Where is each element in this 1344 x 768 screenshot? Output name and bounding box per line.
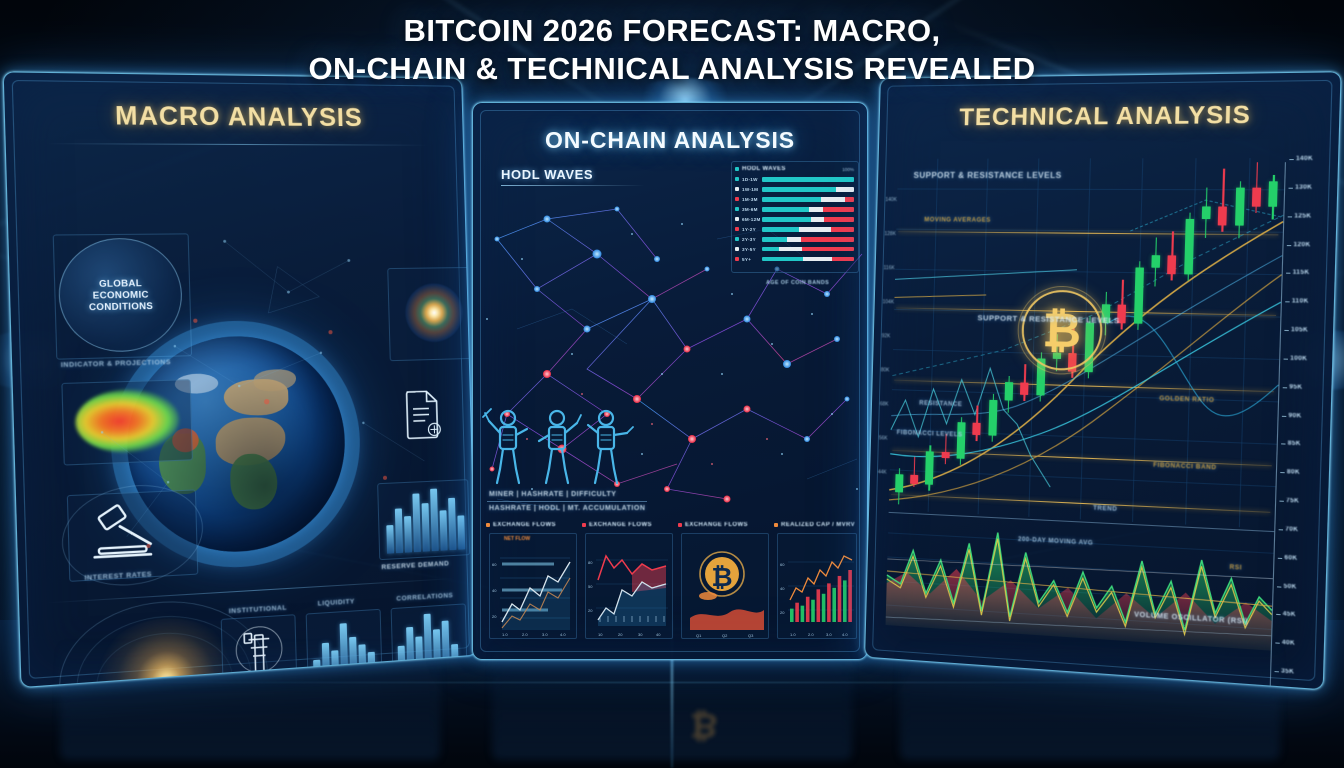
- hodl-chart-title: HODL WAVES 100%: [735, 166, 854, 172]
- axis-tick-label: 104K: [883, 299, 895, 305]
- tech-label: RSI: [1229, 565, 1242, 572]
- axis-tick-mark: [1283, 387, 1287, 388]
- candlestick: [971, 163, 989, 509]
- axis-tick-label: 75K: [1286, 498, 1299, 505]
- axis-tick-label: 44K: [878, 469, 887, 475]
- panel-macro-analysis[interactable]: MACRO ANALYSIS GLOBAL ECONOMIC CONDITION…: [3, 71, 478, 688]
- svg-text:60: 60: [780, 562, 785, 567]
- hodl-row: 3M-6M: [735, 205, 854, 214]
- svg-text:20: 20: [618, 632, 623, 637]
- mini-chart-exchange-flows-2[interactable]: EXCHANGE FLOWS 10203040 805020: [585, 533, 673, 639]
- mini-chart-title: EXCHANGE FLOWS: [493, 522, 556, 528]
- hodl-legend-dot: [735, 257, 739, 261]
- axis-tick-label: 35K: [1281, 668, 1294, 675]
- svg-text:20: 20: [780, 610, 785, 615]
- axis-tick-label: 128K: [884, 231, 896, 237]
- title-line-1: BITCOIN 2026 FORECAST: MACRO,: [404, 13, 941, 48]
- hodl-stacked-bar: [762, 177, 854, 182]
- hodl-legend-dot: [735, 217, 739, 221]
- candlestick: [1243, 162, 1262, 521]
- svg-text:80: 80: [588, 560, 593, 565]
- svg-text:1.0: 1.0: [790, 632, 796, 637]
- axis-tick-label: 90K: [1288, 412, 1301, 419]
- axis-tick-label: 140K: [1296, 156, 1313, 162]
- tech-label: SUPPORT & RESISTANCE LEVELS: [913, 171, 1061, 180]
- hodl-stacked-bar: [762, 247, 854, 252]
- axis-tick-label: 50K: [1283, 583, 1296, 590]
- reflection-bitcoin-icon: ₿: [690, 700, 720, 744]
- candlestick: [1226, 162, 1245, 520]
- axis-tick-label: 60K: [1284, 555, 1297, 562]
- hodl-stacked-bar: [762, 187, 854, 192]
- mini-chart-bitcoin-flows[interactable]: EXCHANGE FLOWS ₿ Q1Q2Q3: [681, 533, 769, 639]
- hodl-category-label: 1W-1M: [742, 187, 762, 192]
- mini-chart-title: EXCHANGE FLOWS: [685, 522, 748, 528]
- svg-text:1.0: 1.0: [502, 632, 508, 637]
- axis-tick-mark: [1289, 188, 1293, 189]
- hodl-row: 1W-1M: [735, 185, 854, 194]
- panel-reflection: [492, 640, 852, 760]
- axis-tick-label: 125K: [1294, 213, 1311, 219]
- mini-chart-title: REALIZED CAP / MVRV: [781, 522, 855, 528]
- mini-chart-realized-cap[interactable]: REALIZED CAP / MVRV 1.02.03.04.0 604020: [777, 533, 857, 639]
- axis-tick-label: 92K: [882, 333, 891, 339]
- axis-tick-mark: [1277, 586, 1281, 587]
- axis-tick-mark: [1276, 614, 1280, 615]
- candlestick: [955, 163, 973, 508]
- mini-chart-title: EXCHANGE FLOWS: [589, 522, 652, 528]
- svg-text:4.0: 4.0: [560, 632, 566, 637]
- hodl-legend-dot: [735, 197, 739, 201]
- hodl-category-label: 3M-6M: [742, 207, 762, 212]
- svg-text:30: 30: [638, 632, 643, 637]
- axis-tick-mark: [1286, 273, 1290, 274]
- svg-text:3.0: 3.0: [542, 632, 548, 637]
- hodl-waves-chart[interactable]: HODL WAVES 100% 1D-1W1W-1M1M-3M3M-6M6M-1…: [731, 161, 859, 273]
- hodl-row: 5Y+: [735, 255, 854, 264]
- bitcoin-icon: ₿: [1021, 289, 1104, 371]
- svg-text:20: 20: [588, 608, 593, 613]
- candlestick: [1002, 163, 1020, 510]
- candlestick: [1128, 162, 1146, 515]
- mini-chart-exchange-flows-1[interactable]: EXCHANGE FLOWS NET FLOW 1.02.03.04.0 604…: [489, 533, 577, 639]
- hodl-category-label: 1D-1W: [742, 177, 762, 182]
- hodl-underline: [501, 185, 645, 186]
- hodl-legend-dot: [735, 207, 739, 211]
- panel-title-macro: MACRO ANALYSIS: [4, 100, 462, 134]
- axis-tick-label: 140K: [885, 197, 897, 203]
- axis-tick-label: 115K: [1293, 270, 1310, 277]
- mini-chart-dot: [486, 523, 490, 527]
- mini-chart-dot: [582, 523, 586, 527]
- hodl-rows: 1D-1W1W-1M1M-3M3M-6M6M-12M1Y-2Y2Y-3Y3Y-5…: [735, 175, 854, 263]
- svg-text:4.0: 4.0: [842, 632, 848, 637]
- oscillator-icon[interactable]: [885, 512, 1274, 656]
- axis-tick-label: 105K: [1291, 327, 1308, 334]
- hodl-legend-dot: [735, 227, 739, 231]
- svg-text:40: 40: [780, 586, 785, 591]
- candlestick: [925, 163, 942, 506]
- hodl-legend-dot: [735, 177, 739, 181]
- hodl-row: 1D-1W: [735, 175, 854, 184]
- hodl-category-label: 2Y-3Y: [742, 237, 762, 242]
- miner-label: HASHRATE | HODL | MT. ACCUMULATION: [489, 505, 645, 512]
- page-title: BITCOIN 2026 FORECAST: MACRO, ON-CHAIN &…: [0, 12, 1344, 88]
- svg-text:Q2: Q2: [722, 633, 728, 638]
- axis-tick-mark: [1282, 415, 1286, 416]
- axis-tick-mark: [1284, 330, 1288, 331]
- svg-text:Q3: Q3: [748, 633, 754, 638]
- hodl-category-label: 5Y+: [742, 257, 762, 262]
- hodl-row: 1M-3M: [735, 195, 854, 204]
- miner-robot-icon: [487, 403, 637, 485]
- hodl-row: 3Y-5Y: [735, 245, 854, 254]
- hodl-legend-dot: [735, 237, 739, 241]
- candlestick: [910, 163, 927, 505]
- axis-tick-label: 80K: [1287, 469, 1300, 476]
- candlestick: [940, 163, 957, 507]
- axis-tick-mark: [1279, 529, 1283, 530]
- hodl-stacked-bar: [762, 227, 854, 232]
- axis-tick-label: 130K: [1295, 184, 1312, 190]
- hodl-stacked-bar: [762, 217, 854, 222]
- hodl-footer-label: AGE OF COIN BANDS: [766, 280, 829, 286]
- hodl-legend-dot: [735, 187, 739, 191]
- macro-label: LIQUIDITY: [318, 598, 355, 607]
- panel-reflection: [60, 640, 440, 760]
- mini-chart-dot: [678, 523, 682, 527]
- axis-tick-mark: [1280, 472, 1284, 473]
- axis-tick-label: 95K: [1289, 384, 1302, 391]
- axis-tick-mark: [1289, 159, 1293, 160]
- axis-tick-label: 100K: [1290, 355, 1307, 362]
- hodl-legend-dot: [735, 247, 739, 251]
- axis-tick-label: 40K: [1282, 640, 1295, 647]
- axis-tick-mark: [1281, 444, 1285, 445]
- hodl-waves-label: HODL WAVES: [501, 167, 593, 182]
- axis-tick-label: 68K: [880, 401, 889, 407]
- axis-tick-mark: [1288, 216, 1292, 217]
- macro-label: CORRELATIONS: [396, 592, 453, 603]
- hodl-row: 2Y-3Y: [735, 235, 854, 244]
- tech-label: TREND: [1093, 506, 1117, 513]
- hodl-category-label: 6M-12M: [742, 217, 762, 222]
- axis-tick-mark: [1284, 358, 1288, 359]
- title-underline: [48, 143, 428, 146]
- axis-tick-label: 80K: [881, 367, 890, 373]
- axis-tick-label: 116K: [883, 265, 894, 271]
- candlestick: [1112, 162, 1130, 515]
- mini-chart-dot: [774, 523, 778, 527]
- svg-text:60: 60: [492, 562, 497, 567]
- axis-tick-label: 110K: [1292, 298, 1309, 305]
- svg-text:Q1: Q1: [696, 633, 702, 638]
- axis-tick-label: 45K: [1283, 612, 1296, 619]
- hodl-stacked-bar: [762, 197, 854, 202]
- miner-divider: [487, 501, 647, 502]
- axis-tick-label: 56K: [879, 435, 888, 441]
- panel-onchain-analysis[interactable]: ON-CHAIN ANALYSIS HODL WAVES: [472, 102, 868, 660]
- svg-text:20: 20: [492, 614, 497, 619]
- axis-tick-label: 120K: [1293, 241, 1310, 248]
- tech-label: MOVING AVERAGES: [924, 217, 991, 224]
- hodl-category-label: 3Y-5Y: [742, 247, 762, 252]
- hodl-row: 1Y-2Y: [735, 225, 854, 234]
- panel-technical-analysis[interactable]: TECHNICAL ANALYSIS: [864, 71, 1342, 690]
- svg-text:10: 10: [598, 632, 603, 637]
- svg-text:2.0: 2.0: [808, 632, 814, 637]
- svg-text:3.0: 3.0: [826, 632, 832, 637]
- svg-text:50: 50: [588, 584, 593, 589]
- macro-network-overlay: [8, 219, 477, 606]
- panel-title-technical: TECHNICAL ANALYSIS: [879, 100, 1339, 133]
- svg-text:2.0: 2.0: [522, 632, 528, 637]
- hodl-category-label: 1M-3M: [742, 197, 762, 202]
- mini-chart-sub: NET FLOW: [504, 536, 530, 542]
- hodl-row: 6M-12M: [735, 215, 854, 224]
- svg-text:40: 40: [656, 632, 661, 637]
- panel-title-onchain: ON-CHAIN ANALYSIS: [473, 127, 867, 154]
- svg-text:40: 40: [492, 588, 497, 593]
- miner-label: MINER | HASHRATE | DIFFICULTY: [489, 491, 616, 498]
- title-line-2: ON-CHAIN & TECHNICAL ANALYSIS REVEALED: [0, 50, 1344, 88]
- hodl-stacked-bar: [762, 257, 854, 262]
- candlestick: [986, 163, 1004, 509]
- axis-tick-mark: [1278, 558, 1282, 559]
- axis-tick-label: 70K: [1285, 526, 1298, 533]
- axis-tick-mark: [1287, 245, 1291, 246]
- axis-tick-label: 85K: [1288, 441, 1301, 448]
- hodl-category-label: 1Y-2Y: [742, 227, 762, 232]
- panel-reflection: [900, 640, 1280, 760]
- hodl-stacked-bar: [762, 237, 854, 242]
- hodl-title-text: HODL WAVES: [742, 166, 786, 172]
- axis-tick-mark: [1285, 301, 1289, 302]
- axis-tick-mark: [1279, 501, 1283, 502]
- svg-text:₿: ₿: [711, 562, 732, 592]
- hodl-stacked-bar: [762, 207, 854, 212]
- macro-label: INSTITUTIONAL: [229, 604, 287, 615]
- infographic-canvas: BITCOIN 2026 FORECAST: MACRO, ON-CHAIN &…: [0, 0, 1344, 768]
